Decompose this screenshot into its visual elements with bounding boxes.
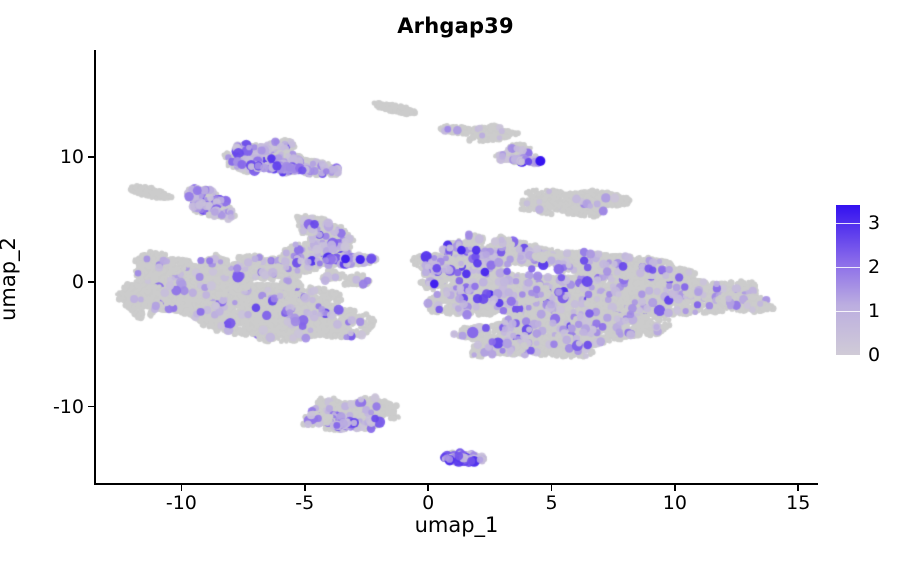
colorbar-tick-mark [836,267,860,269]
x-tick-label: 5 [545,492,557,514]
x-axis-label: umap_1 [95,513,818,537]
colorbar-tick-label: 3 [868,212,880,234]
scatter-points-canvas [95,50,818,484]
colorbar-legend: 0123 [836,205,908,355]
y-tick-mark [88,406,94,408]
y-tick-mark [88,156,94,158]
x-tick-label: 0 [422,492,434,514]
x-tick-mark [304,485,306,491]
colorbar-tick-mark [836,223,860,225]
x-tick-label: -5 [295,492,314,514]
y-tick-label: -10 [53,396,84,418]
y-tick-label: 0 [72,271,84,293]
scatter-plot-area [95,50,818,484]
colorbar-tick-mark [836,311,860,313]
x-tick-label: 15 [786,492,810,514]
colorbar-tick-label: 2 [868,256,880,278]
y-axis-spine [94,50,96,485]
umap-feature-plot-figure: Arhgap39 -10-5051015 100-10 umap_1 umap_… [0,0,911,562]
colorbar-gradient-bar [836,205,860,355]
x-tick-mark [674,485,676,491]
x-axis-spine [94,483,818,485]
y-axis-label: umap_2 [0,237,20,321]
x-tick-label: -10 [166,492,197,514]
page-title: Arhgap39 [0,14,911,38]
x-tick-mark [551,485,553,491]
colorbar-tick-label: 1 [868,300,880,322]
y-tick-mark [88,281,94,283]
colorbar-tick-label: 0 [868,344,880,366]
y-tick-label: 10 [60,146,84,168]
x-tick-mark [797,485,799,491]
x-tick-mark [427,485,429,491]
x-tick-label: 10 [663,492,687,514]
x-tick-mark [181,485,183,491]
